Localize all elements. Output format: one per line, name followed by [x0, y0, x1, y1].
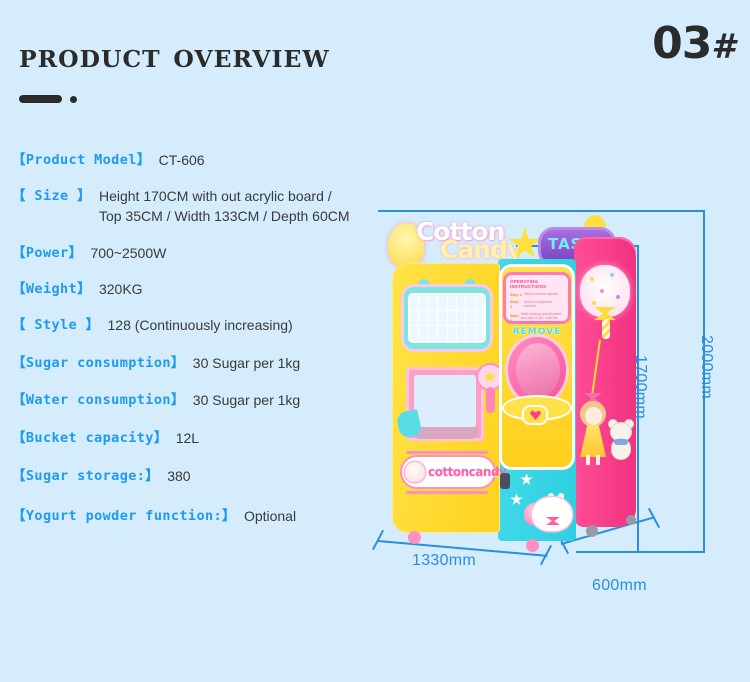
page-title: Product Overview — [19, 36, 330, 75]
girl-face — [585, 407, 602, 425]
caster-wheel — [526, 539, 539, 552]
spec-label-weight: 【Weight】 — [12, 279, 91, 299]
screen-item[interactable] — [419, 311, 427, 326]
logo-stripe-top — [406, 451, 488, 454]
screen-item[interactable] — [429, 295, 437, 310]
instruction-step-text: Select screen needle — [524, 292, 558, 296]
spec-label-size: 【 Size 】 — [12, 186, 91, 206]
spec-row-product-model: 【Product Model】 CT-606 — [0, 150, 400, 170]
caster-wheel — [626, 515, 636, 525]
brand-logo-text: cottoncandy — [428, 465, 506, 479]
dim-body-bottom-line — [576, 551, 639, 553]
cotton-candy-vending-machine: Cotton Candy TASTY — [380, 215, 645, 545]
spec-row-sugar-consumption: 【Sugar consumption】 30 Sugar per 1kg — [0, 353, 400, 373]
spec-value-bucket-capacity: 12L — [176, 428, 199, 448]
spec-row-yogurt-powder-function: 【Yogurt powder function:】 Optional — [0, 506, 400, 526]
sprinkle-dot — [592, 301, 596, 305]
spec-row-water-consumption: 【Water consumption】 30 Sugar per 1kg — [0, 390, 400, 410]
brand-logo-plate: cottoncandy — [402, 457, 494, 487]
spec-value-yogurt-powder-function: Optional — [244, 506, 296, 526]
sprinkle-dot — [610, 273, 614, 277]
screen-item[interactable] — [448, 295, 456, 310]
screen-item[interactable] — [448, 326, 456, 341]
dim-label-depth: 600mm — [592, 577, 647, 595]
product-figure: 2000mm 1700mm 1330mm 600mm Cotton Candy … — [370, 185, 750, 615]
screen-item[interactable] — [438, 311, 446, 326]
sprinkle-dot — [600, 289, 604, 293]
screen-item[interactable] — [457, 326, 465, 341]
spec-value-size: Height 170CM with out acrylic board / To… — [99, 186, 350, 226]
knob-stem — [486, 387, 495, 413]
star-knob-icon[interactable] — [478, 365, 502, 389]
touchscreen-display[interactable] — [408, 293, 486, 343]
spec-value-power: 700~2500W — [90, 243, 166, 263]
section-hash-symbol: # — [711, 27, 735, 67]
girl-leg-left — [586, 455, 590, 465]
girl-dress — [580, 425, 606, 457]
caster-wheel — [586, 525, 598, 537]
screen-item[interactable] — [476, 326, 484, 341]
dim-overall-top-line — [378, 210, 705, 212]
screen-item[interactable] — [438, 326, 446, 341]
remove-label: REMOVE — [510, 327, 564, 337]
instruction-step-number: Step 3 — [510, 313, 519, 323]
spec-row-style: 【 Style 】 128 (Continuously increasing) — [0, 315, 400, 335]
sprinkle-dot — [590, 277, 594, 281]
spec-row-size: 【 Size 】 Height 170CM with out acrylic b… — [0, 186, 400, 226]
title-underline-bar — [19, 95, 62, 103]
instruction-step-number: Step 2 — [510, 299, 522, 309]
operating-instructions-panel: OPERATING INSTRUCTIONS Step 1 Select scr… — [506, 275, 568, 321]
screen-item[interactable] — [410, 295, 418, 310]
screen-item[interactable] — [457, 311, 465, 326]
spec-label-product-model: 【Product Model】 — [12, 150, 151, 170]
screen-item[interactable] — [438, 295, 446, 310]
dim-label-overall-height: 2000mm — [697, 335, 715, 399]
spec-row-bucket-capacity: 【Bucket capacity】 12L — [0, 428, 400, 448]
sprinkle-dot — [616, 295, 620, 299]
pickup-window-glass — [414, 375, 476, 427]
screen-item[interactable] — [429, 326, 437, 341]
screen-item[interactable] — [466, 311, 474, 326]
spec-row-power: 【Power】 700~2500W — [0, 243, 400, 263]
candy-stick — [602, 319, 610, 339]
pickup-window-tray — [414, 427, 478, 439]
screen-item[interactable] — [448, 311, 456, 326]
spec-label-water-consumption: 【Water consumption】 — [12, 390, 185, 410]
dim-label-width: 1330mm — [412, 552, 476, 570]
spec-value-style: 128 (Continuously increasing) — [108, 315, 293, 335]
bear-character-graphic — [608, 421, 634, 463]
spec-value-product-model: CT-606 — [159, 150, 205, 170]
spec-row-sugar-storage: 【Sugar storage:】 380 — [0, 466, 400, 486]
screen-item[interactable] — [419, 295, 427, 310]
instruction-step-text: Start making specification and take it o… — [521, 312, 564, 324]
title-underline-dot — [70, 96, 77, 103]
logo-cone-icon — [405, 462, 425, 482]
screen-item[interactable] — [429, 311, 437, 326]
spec-label-power: 【Power】 — [12, 243, 82, 263]
caster-wheel — [408, 531, 421, 544]
instruction-step-number: Step 1 — [510, 292, 522, 297]
spec-label-sugar-storage: 【Sugar storage:】 — [12, 466, 159, 486]
spec-value-sugar-storage: 380 — [167, 466, 190, 486]
section-number-value: 03 — [652, 18, 711, 69]
spec-value-sugar-consumption: 30 Sugar per 1kg — [193, 353, 300, 373]
spec-row-weight: 【Weight】 320KG — [0, 279, 400, 299]
instruction-step-text: Select a payment method — [524, 300, 564, 308]
screen-item[interactable] — [476, 311, 484, 326]
bear-scarf — [614, 439, 628, 445]
logo-stripe-bottom — [406, 491, 488, 494]
instructions-title: OPERATING INSTRUCTIONS — [510, 279, 564, 289]
screen-item[interactable] — [410, 311, 418, 326]
screen-item[interactable] — [466, 295, 474, 310]
spec-label-bucket-capacity: 【Bucket capacity】 — [12, 428, 168, 448]
girl-leg-right — [596, 455, 600, 465]
screen-item[interactable] — [410, 326, 418, 341]
bunny-sticker-icon — [532, 497, 572, 531]
section-number: 03# — [652, 18, 735, 69]
instruction-step-row: Step 1 Select screen needle — [510, 292, 564, 297]
page-header: Product Overview 03# — [0, 0, 750, 130]
dispenser-oval-glass — [516, 343, 560, 397]
spec-label-yogurt-powder-function: 【Yogurt powder function:】 — [12, 506, 236, 526]
spec-label-style: 【 Style 】 — [12, 315, 100, 335]
spec-value-weight: 320KG — [99, 279, 143, 299]
screen-item[interactable] — [466, 326, 474, 341]
specification-list: 【Product Model】 CT-606 【 Size 】 Height 1… — [0, 150, 400, 540]
girl-character-graphic — [576, 391, 610, 465]
coin-slot[interactable] — [500, 473, 510, 489]
instruction-step-row: Step 2 Select a payment method — [510, 299, 564, 309]
screen-item[interactable] — [419, 326, 427, 341]
instruction-step-row: Step 3 Start making specification and ta… — [510, 312, 564, 324]
spec-value-water-consumption: 30 Sugar per 1kg — [193, 390, 300, 410]
screen-item[interactable] — [457, 295, 465, 310]
spec-label-sugar-consumption: 【Sugar consumption】 — [12, 353, 185, 373]
screen-item[interactable] — [476, 295, 484, 310]
